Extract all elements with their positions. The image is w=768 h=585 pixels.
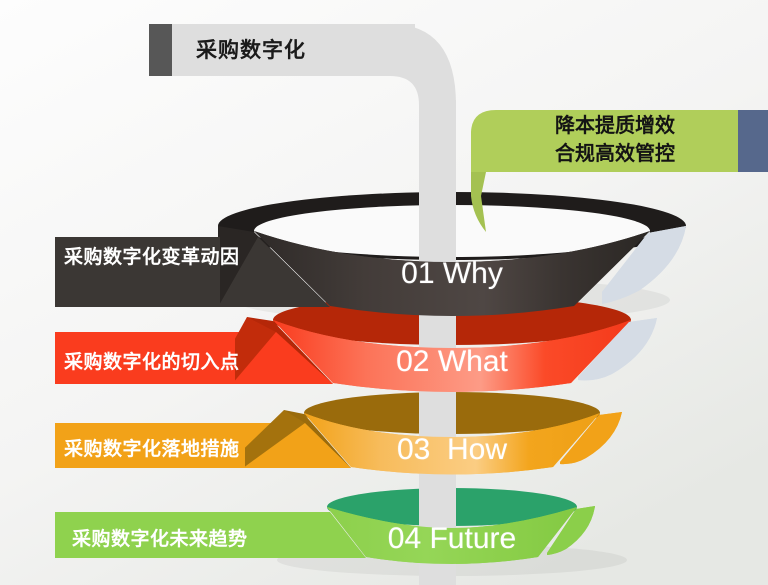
pipe-vertical (419, 100, 456, 585)
title-accent-bar (149, 24, 172, 76)
ribbon-label-2: 采购数字化的切入点 (64, 347, 240, 374)
callout-cap (738, 110, 768, 172)
slide-canvas: 采购数字化 降本提质增效 合规高效管控 01 Why 02 What 03 Ho… (0, 0, 768, 585)
ribbon-label-1: 采购数字化变革动因 (64, 242, 240, 269)
callout-text: 降本提质增效 合规高效管控 (500, 112, 730, 174)
ribbon-label-4: 采购数字化未来趋势 (72, 524, 248, 551)
ribbon-label-3: 采购数字化落地措施 (64, 434, 240, 461)
funnel-graphic (0, 0, 768, 585)
page-title: 采购数字化 (196, 37, 446, 67)
